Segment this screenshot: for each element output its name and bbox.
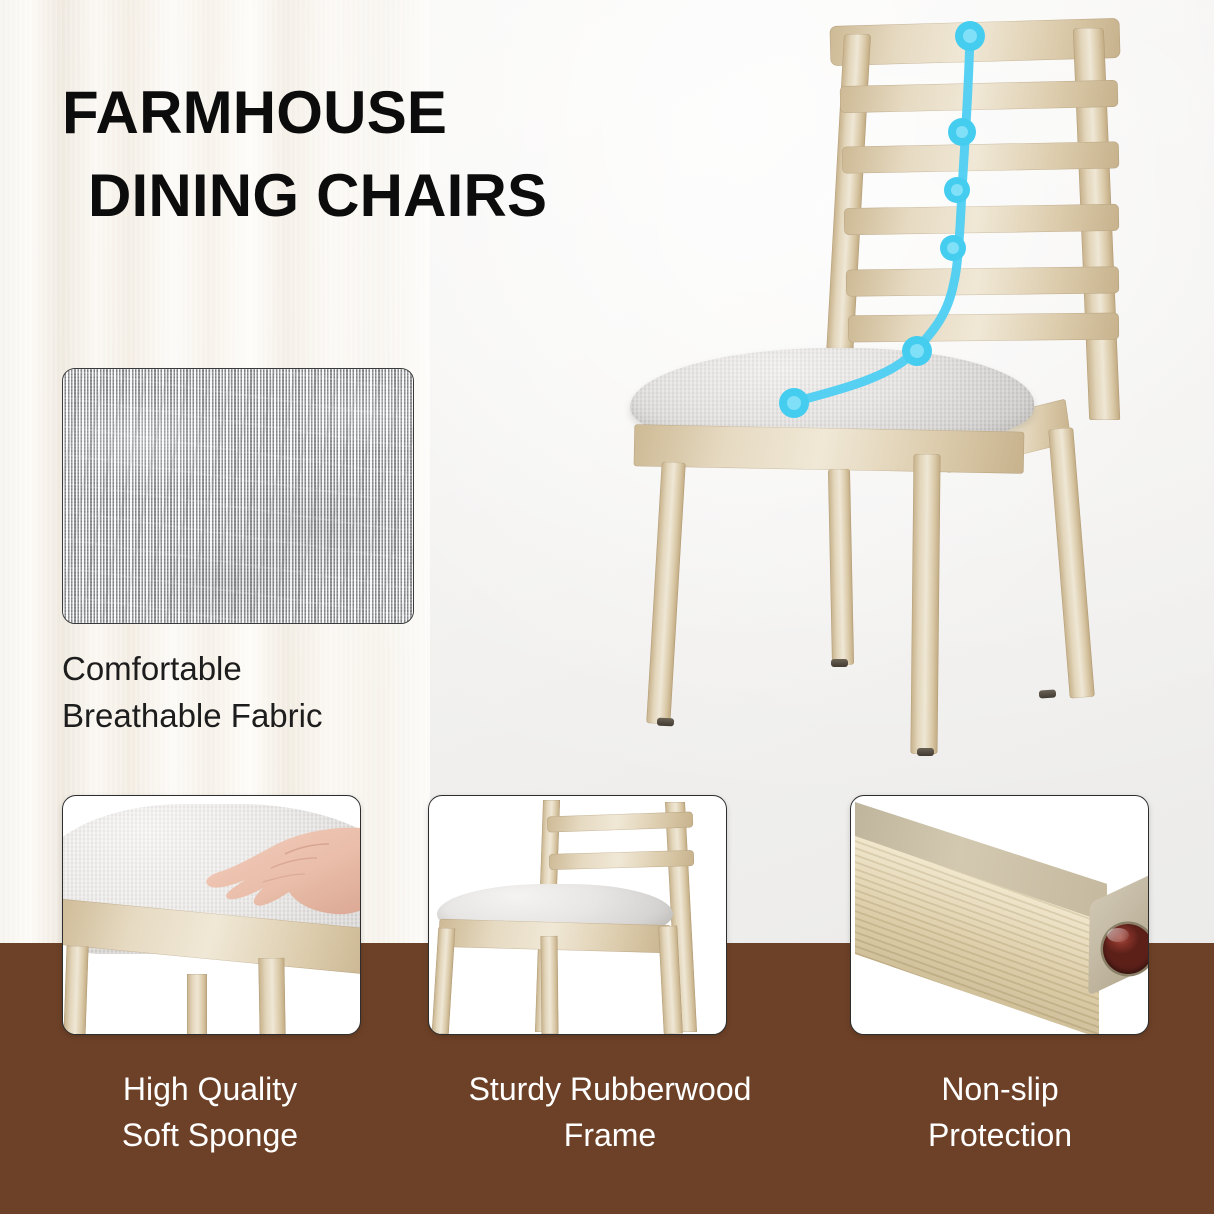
fabric-caption-line-2: Breathable Fabric xyxy=(62,693,462,740)
feature-card-non-slip xyxy=(850,795,1149,1035)
chair-leg xyxy=(63,946,88,1035)
chair-foot-cap xyxy=(917,748,934,756)
chair-leg xyxy=(432,928,456,1035)
chair-leg xyxy=(258,958,285,1035)
infographic-canvas: FARMHOUSE DINING CHAIRS Comfortable Brea… xyxy=(0,0,1214,1214)
chair-leg xyxy=(1048,427,1095,698)
title-line-1: FARMHOUSE xyxy=(62,79,447,146)
fabric-swatch-block xyxy=(62,368,414,624)
feature-card-rubberwood-frame xyxy=(428,795,727,1035)
chair-leg xyxy=(828,469,854,665)
page-title: FARMHOUSE DINING CHAIRS xyxy=(62,72,702,238)
caption-line-1: High Quality xyxy=(60,1066,360,1112)
fabric-caption-line-1: Comfortable xyxy=(62,646,462,693)
title-line-2: DINING CHAIRS xyxy=(88,155,702,238)
hero-chair-image xyxy=(612,14,1172,754)
caption-line-1: Sturdy Rubberwood xyxy=(420,1066,800,1112)
chair-leg xyxy=(540,936,558,1034)
caption-line-2: Protection xyxy=(840,1112,1160,1158)
caption-line-2: Frame xyxy=(420,1112,800,1158)
caption-line-1: Non-slip xyxy=(840,1066,1160,1112)
chair-front-apron xyxy=(634,424,1025,473)
chair-slat xyxy=(842,141,1119,173)
wood-leg-closeup xyxy=(851,796,1148,1034)
chair-foot-cap xyxy=(831,659,848,667)
chair-foot-cap xyxy=(657,718,674,727)
chair-slat xyxy=(846,266,1119,296)
chair-leg xyxy=(910,454,940,754)
chair-foot-cap xyxy=(1039,689,1057,698)
gray-woven-linen-swatch xyxy=(62,368,414,624)
feature-caption-rubberwood-frame: Sturdy Rubberwood Frame xyxy=(420,1066,800,1159)
weave-slub-lines xyxy=(63,369,413,623)
chair-leg xyxy=(646,462,685,725)
foot-pad-gloss xyxy=(1107,928,1129,942)
feature-caption-soft-sponge: High Quality Soft Sponge xyxy=(60,1066,360,1159)
hand-pressing-icon xyxy=(193,824,361,916)
caption-line-2: Soft Sponge xyxy=(60,1112,360,1158)
feature-caption-non-slip: Non-slip Protection xyxy=(840,1066,1160,1159)
chair-leg xyxy=(187,974,207,1035)
chair-slat xyxy=(844,204,1119,235)
fabric-caption: Comfortable Breathable Fabric xyxy=(62,646,462,740)
chair-slat xyxy=(848,313,1119,343)
feature-card-soft-sponge xyxy=(62,795,361,1035)
